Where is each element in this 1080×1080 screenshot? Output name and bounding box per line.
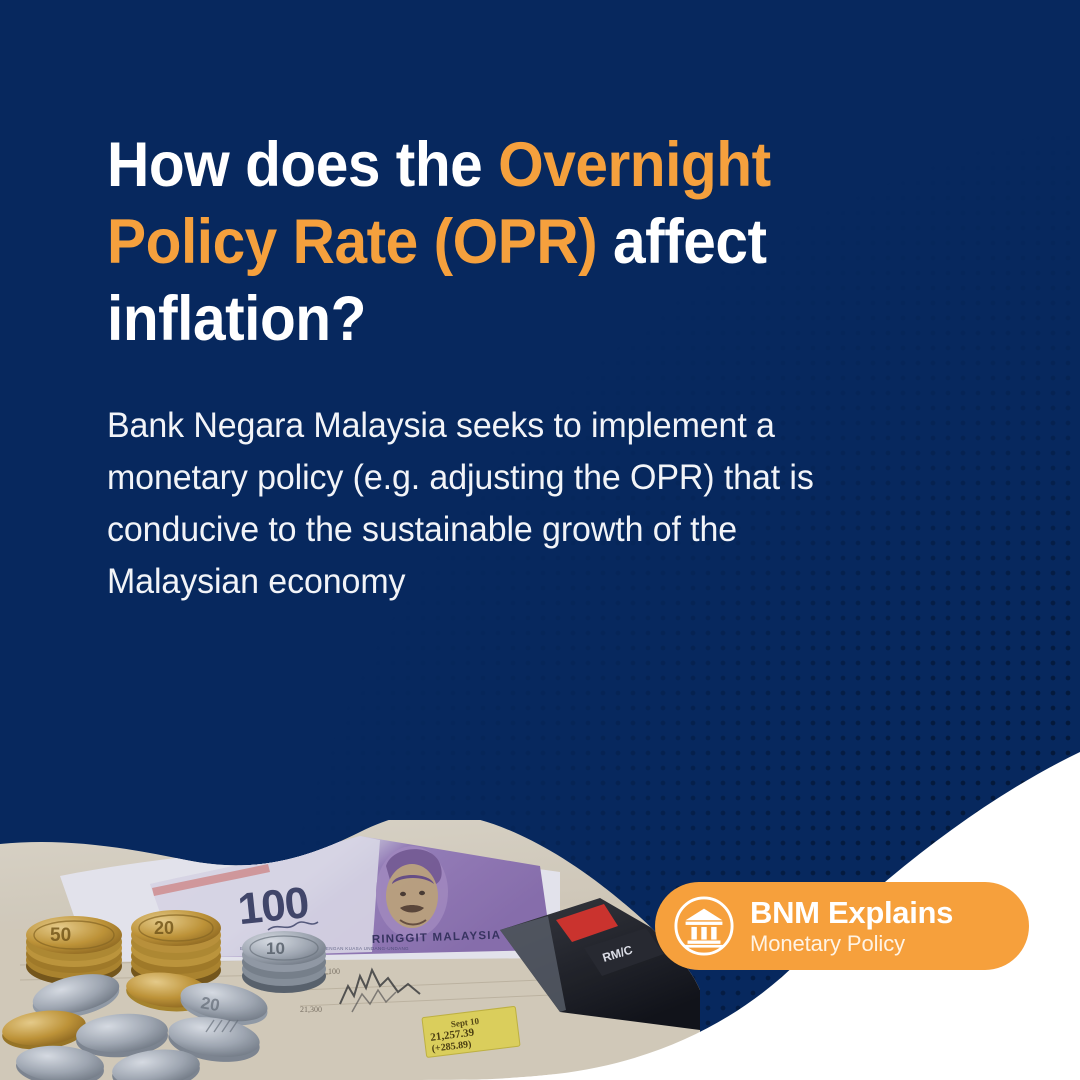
body-paragraph: Bank Negara Malaysia seeks to implement … <box>107 400 883 608</box>
badge-title: BNM Explains <box>750 897 953 928</box>
page-title: How does the Overnight Policy Rate (OPR)… <box>107 127 925 358</box>
headline-part-1: How does the <box>107 130 498 200</box>
bank-building-icon <box>673 895 735 957</box>
money-photo-art: 21,100 21,300 100 GABENOR BAN <box>0 780 700 1080</box>
poster-canvas: 21,100 21,300 100 GABENOR BAN <box>0 0 1080 1080</box>
bnm-explains-badge[interactable]: BNM Explains Monetary Policy <box>655 882 1029 970</box>
money-photo: 21,100 21,300 100 GABENOR BAN <box>0 780 700 1080</box>
badge-subtitle: Monetary Policy <box>750 933 953 955</box>
badge-text-block: BNM Explains Monetary Policy <box>750 897 953 955</box>
